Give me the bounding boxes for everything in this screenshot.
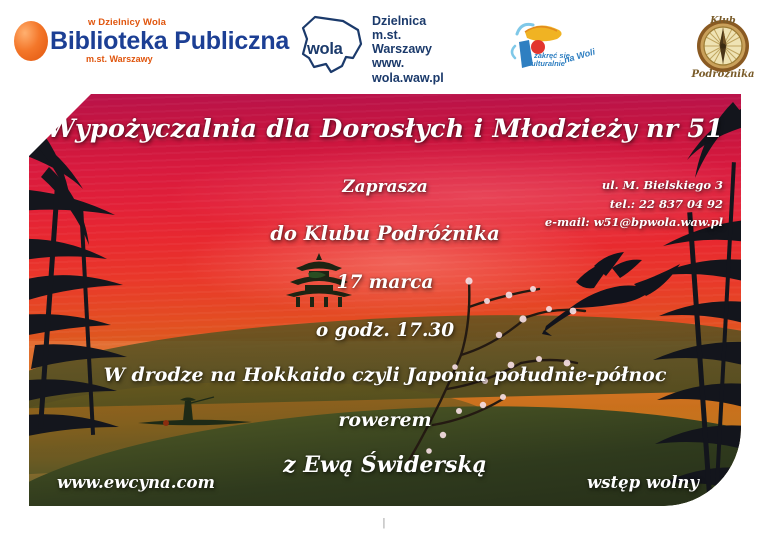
svg-text:na Woli: na Woli [563, 46, 595, 65]
logo-biblioteka-bottom-line: m.st. Warszawy [86, 55, 289, 64]
logo-wola-line-5: wola.waw.pl [372, 71, 444, 85]
poster-image: Wypożyczalnia dla Dorosłych i Młodzieży … [29, 94, 741, 506]
lecture-title-line-2: rowerem [29, 409, 741, 431]
invite-line: Zaprasza [29, 177, 741, 197]
compass-icon [697, 20, 749, 72]
admission-note: wstęp wolny [587, 473, 699, 492]
logo-biblioteka-main-line: Biblioteka Publiczna [50, 29, 289, 54]
page-bottom-mark: | [383, 518, 388, 528]
lecture-title-line-1: W drodze na Hokkaido czyli Japonia połud… [29, 364, 741, 386]
wola-district-outline-icon: wola [298, 14, 366, 76]
logo-biblioteka-publiczna[interactable]: w Dzielnicy Wola Biblioteka Publiczna m.… [14, 18, 289, 64]
event-time: o godz. 17.30 [29, 320, 741, 341]
svg-text:kulturalnie: kulturalnie [527, 59, 565, 68]
kulturalnie-graphic-icon: zakręć się kulturalnie na Woli [512, 24, 595, 68]
poster-title: Wypożyczalnia dla Dorosłych i Młodzieży … [29, 114, 741, 144]
contact-phone: tel.: 22 837 04 92 [545, 195, 723, 214]
logo-klub-podroznika[interactable]: Klub Podróżnika [686, 10, 760, 80]
logo-biblioteka-text: w Dzielnicy Wola Biblioteka Publiczna m.… [50, 18, 289, 64]
header-logo-bar: w Dzielnicy Wola Biblioteka Publiczna m.… [0, 0, 770, 88]
speaker-website[interactable]: www.ewcyna.com [57, 473, 215, 492]
club-line: do Klubu Podróżnika [29, 222, 741, 245]
orange-ball-icon [14, 21, 48, 61]
poster-frame: Wypożyczalnia dla Dorosłych i Młodzieży … [23, 88, 747, 512]
logo-wola-line-1: Dzielnica [372, 14, 444, 28]
wola-wordmark: wola [307, 40, 342, 59]
logo-wola-dzielnica[interactable]: wola Dzielnica m.st. Warszawy www. wola.… [298, 14, 444, 85]
logo-wola-text-block: Dzielnica m.st. Warszawy www. wola.waw.p… [372, 14, 444, 85]
podroznika-word: Podróżnika [690, 69, 754, 80]
klub-word: Klub [709, 15, 736, 26]
logo-wola-line-3: Warszawy [372, 42, 444, 56]
event-date: 17 marca [29, 272, 741, 293]
logo-kulturalnie-na-woli[interactable]: zakręć się kulturalnie na Woli [503, 16, 595, 78]
logo-wola-line-4: www. [372, 56, 444, 70]
logo-wola-line-2: m.st. [372, 28, 444, 42]
